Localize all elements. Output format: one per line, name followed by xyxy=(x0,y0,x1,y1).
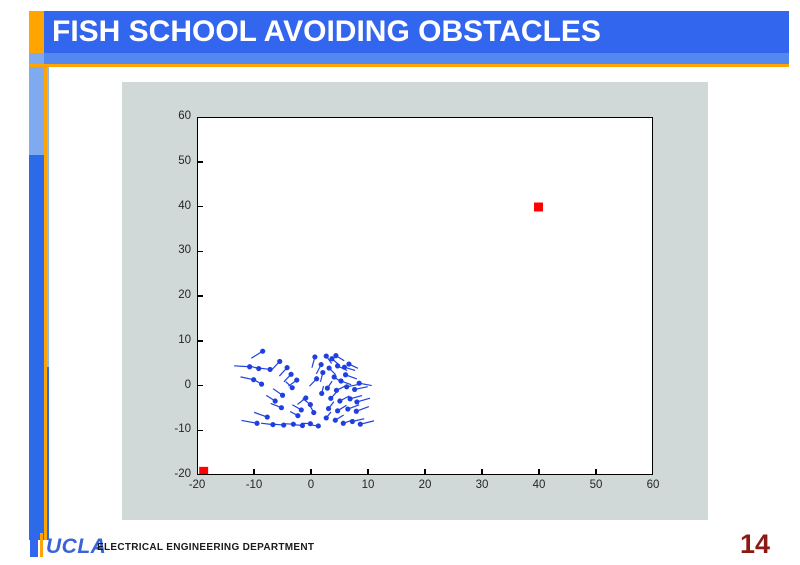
sidebar-rail-thin-dark xyxy=(47,367,49,540)
fish-marker xyxy=(311,410,316,415)
title-divider-rule xyxy=(29,64,789,67)
fish-marker xyxy=(337,398,342,403)
fish-marker xyxy=(357,381,362,386)
x-tick-label: 60 xyxy=(633,480,673,492)
y-tick-mark xyxy=(197,340,203,342)
fish-marker xyxy=(312,354,317,359)
x-tick-mark xyxy=(481,469,483,475)
fish-marker xyxy=(314,376,319,381)
fish-marker xyxy=(346,361,351,366)
sidebar-rail-thin-light xyxy=(47,67,49,367)
x-tick-mark xyxy=(367,469,369,475)
y-tick-label: 20 xyxy=(153,290,191,302)
fish-marker xyxy=(354,409,359,414)
fish-marker xyxy=(290,385,295,390)
fish-marker xyxy=(333,418,338,423)
fish-marker xyxy=(348,396,353,401)
fish-marker xyxy=(273,398,278,403)
y-tick-label: 50 xyxy=(153,156,191,168)
fish-marker xyxy=(319,391,324,396)
y-tick-label: 10 xyxy=(153,335,191,347)
fish-marker xyxy=(280,393,285,398)
fish-marker xyxy=(320,370,325,375)
scatter-plot-canvas xyxy=(198,118,652,474)
fish-marker xyxy=(324,415,329,420)
fish-marker xyxy=(332,374,337,379)
slide: FISH SCHOOL AVOIDING OBSTACLES -20-10010… xyxy=(0,0,800,565)
title-bar: FISH SCHOOL AVOIDING OBSTACLES xyxy=(44,11,789,53)
fish-marker xyxy=(254,421,259,426)
y-tick-label: 0 xyxy=(153,380,191,392)
y-tick-label: 30 xyxy=(153,245,191,257)
fish-marker xyxy=(358,422,363,427)
ucla-logo-bar-blue xyxy=(30,533,38,557)
page-number: 14 xyxy=(740,531,770,558)
fish-marker xyxy=(294,378,299,383)
y-tick-label: 40 xyxy=(153,201,191,213)
x-tick-mark xyxy=(310,469,312,475)
obstacle-marker xyxy=(534,203,543,212)
fish-marker xyxy=(333,353,338,358)
fish-marker xyxy=(316,423,321,428)
fish-marker xyxy=(326,406,331,411)
title-accent-block xyxy=(29,11,44,53)
page-title: FISH SCHOOL AVOIDING OBSTACLES xyxy=(52,17,601,47)
y-tick-mark xyxy=(197,161,203,163)
y-tick-label: -10 xyxy=(153,424,191,436)
y-tick-mark xyxy=(197,385,203,387)
title-underbar xyxy=(44,53,789,64)
fish-marker xyxy=(277,359,282,364)
x-tick-mark xyxy=(538,469,540,475)
fish-marker xyxy=(354,399,359,404)
department-label: ELECTRICAL ENGINEERING DEPARTMENT xyxy=(97,543,314,553)
x-tick-mark xyxy=(595,469,597,475)
plot-axes xyxy=(197,117,653,475)
y-tick-mark xyxy=(197,295,203,297)
fish-marker xyxy=(335,363,340,368)
sidebar-rail-light xyxy=(29,67,44,155)
fish-marker xyxy=(299,407,304,412)
fish-marker xyxy=(319,362,324,367)
x-tick-label: 10 xyxy=(348,480,388,492)
fish-marker xyxy=(342,365,347,370)
fish-marker xyxy=(327,366,332,371)
y-tick-label: 60 xyxy=(153,111,191,123)
fish-marker xyxy=(260,349,265,354)
fish-marker xyxy=(341,421,346,426)
fish-marker xyxy=(344,384,349,389)
x-tick-mark xyxy=(253,469,255,475)
x-tick-label: 30 xyxy=(462,480,502,492)
y-tick-mark xyxy=(197,430,203,432)
x-tick-label: -10 xyxy=(234,480,274,492)
fish-marker xyxy=(338,378,343,383)
x-tick-label: 40 xyxy=(519,480,559,492)
fish-marker xyxy=(335,408,340,413)
fish-marker xyxy=(345,406,350,411)
figure-panel: -20-100102030405060-20-100102030405060 xyxy=(122,82,708,520)
y-tick-label: -20 xyxy=(153,469,191,481)
fish-marker xyxy=(324,353,329,358)
title-underbar-accent xyxy=(29,53,44,64)
obstacle-marker xyxy=(199,467,208,474)
x-tick-label: -20 xyxy=(177,480,217,492)
ucla-logo-bar-orange xyxy=(40,533,43,557)
fish-marker xyxy=(265,414,270,419)
x-tick-label: 50 xyxy=(576,480,616,492)
fish-marker xyxy=(285,365,290,370)
fish-marker xyxy=(288,372,293,377)
fish-marker xyxy=(343,372,348,377)
x-tick-mark xyxy=(424,469,426,475)
fish-marker xyxy=(328,396,333,401)
fish-marker xyxy=(352,387,357,392)
x-tick-label: 0 xyxy=(291,480,331,492)
fish-marker xyxy=(295,413,300,418)
fish-marker xyxy=(259,382,264,387)
fish-marker xyxy=(350,419,355,424)
sidebar-rail-dark xyxy=(29,155,44,540)
y-tick-mark xyxy=(197,251,203,253)
fish-marker xyxy=(325,386,330,391)
fish-marker xyxy=(279,405,284,410)
x-tick-label: 20 xyxy=(405,480,445,492)
y-tick-mark xyxy=(197,206,203,208)
